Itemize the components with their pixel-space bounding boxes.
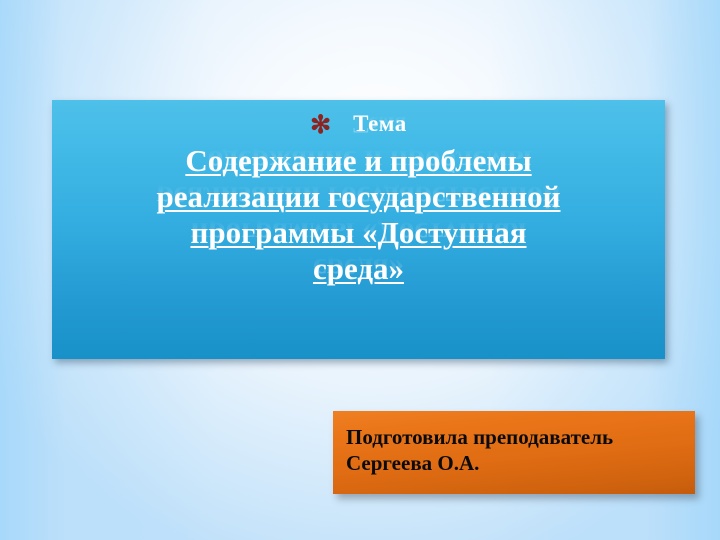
headline-line-1: Содержание и проблемы Содержание и пробл… — [68, 143, 649, 179]
kicker-label-text: Тема — [353, 111, 407, 136]
headline-line-1-text: Содержание и проблемы — [185, 143, 531, 178]
title-panel-content: ✻ТемаТема Содержание и проблемы Содержан… — [52, 106, 665, 287]
kicker-label: ТемаТема — [353, 112, 407, 136]
headline-line-4: среда» среда» — [68, 251, 649, 287]
title-panel: ✻ТемаТема Содержание и проблемы Содержан… — [52, 100, 665, 359]
asterisk-icon: ✻ — [310, 113, 331, 138]
headline-line-3: программы «Доступная программы «Доступна… — [68, 215, 649, 251]
headline-line-4-text: среда» — [313, 251, 404, 286]
headline-line-2: реализации государственной реализации го… — [68, 179, 649, 215]
slide-canvas: ✻ТемаТема Содержание и проблемы Содержан… — [0, 0, 720, 540]
headline-line-2-text: реализации государственной — [156, 179, 560, 214]
headline: Содержание и проблемы Содержание и пробл… — [52, 143, 665, 287]
kicker-row: ✻ТемаТема — [52, 106, 665, 137]
headline-line-3-text: программы «Доступная — [190, 215, 526, 250]
author-text: Подготовила преподаватель Сергеева О.А. — [333, 411, 695, 476]
author-panel: Подготовила преподаватель Сергеева О.А. — [333, 411, 695, 494]
